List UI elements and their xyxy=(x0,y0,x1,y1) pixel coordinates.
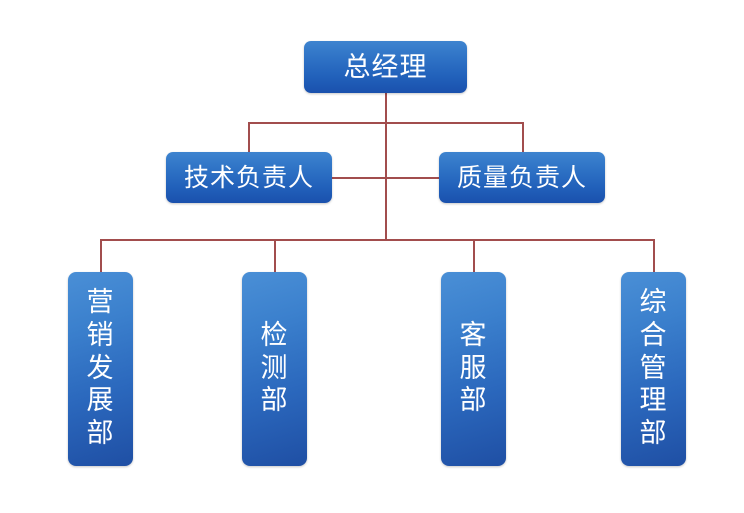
glyph: 营 xyxy=(87,287,115,320)
node-quality-director-label: 质量负责人 xyxy=(457,165,587,190)
connector-trunk-vertical xyxy=(385,93,387,241)
glyph: 部 xyxy=(460,385,488,418)
node-customer-service-dept-label: 客 服 部 xyxy=(460,320,488,419)
node-marketing-development-dept-label: 营 销 发 展 部 xyxy=(87,287,115,452)
glyph: 综 xyxy=(640,287,668,320)
glyph: 发 xyxy=(87,353,115,386)
connector-drop-quality-director xyxy=(522,122,524,153)
glyph: 销 xyxy=(87,320,115,353)
connector-technical-director-to-trunk xyxy=(332,177,386,179)
connector-drop-general-management-dept xyxy=(653,239,655,273)
node-general-manager-label: 总经理 xyxy=(344,54,428,81)
connector-level2-horizontal xyxy=(248,122,524,124)
node-marketing-development-dept[interactable]: 营 销 发 展 部 xyxy=(68,272,133,466)
glyph: 理 xyxy=(640,385,668,418)
glyph: 测 xyxy=(261,353,289,386)
glyph: 部 xyxy=(640,418,668,451)
glyph: 客 xyxy=(460,320,488,353)
glyph: 部 xyxy=(87,418,115,451)
node-customer-service-dept[interactable]: 客 服 部 xyxy=(441,272,506,466)
node-quality-director[interactable]: 质量负责人 xyxy=(439,152,605,203)
node-technical-director-label: 技术负责人 xyxy=(184,165,314,190)
connector-drop-technical-director xyxy=(248,122,250,153)
node-general-management-dept[interactable]: 综 合 管 理 部 xyxy=(621,272,686,466)
glyph: 服 xyxy=(460,353,488,386)
glyph: 管 xyxy=(640,353,668,386)
glyph: 部 xyxy=(261,385,289,418)
connector-drop-marketing-dept xyxy=(100,239,102,273)
connector-drop-customer-service-dept xyxy=(473,239,475,273)
connector-drop-testing-dept xyxy=(274,239,276,273)
node-general-manager[interactable]: 总经理 xyxy=(304,41,467,93)
glyph: 合 xyxy=(640,320,668,353)
glyph: 展 xyxy=(87,385,115,418)
connector-quality-director-to-trunk xyxy=(385,177,439,179)
node-testing-dept-label: 检 测 部 xyxy=(261,320,289,419)
node-technical-director[interactable]: 技术负责人 xyxy=(166,152,332,203)
glyph: 检 xyxy=(261,320,289,353)
node-general-management-dept-label: 综 合 管 理 部 xyxy=(640,287,668,452)
node-testing-dept[interactable]: 检 测 部 xyxy=(242,272,307,466)
org-chart-canvas: 总经理 技术负责人 质量负责人 营 销 发 展 部 检 测 部 客 服 部 xyxy=(0,0,744,513)
connector-level3-horizontal xyxy=(100,239,655,241)
